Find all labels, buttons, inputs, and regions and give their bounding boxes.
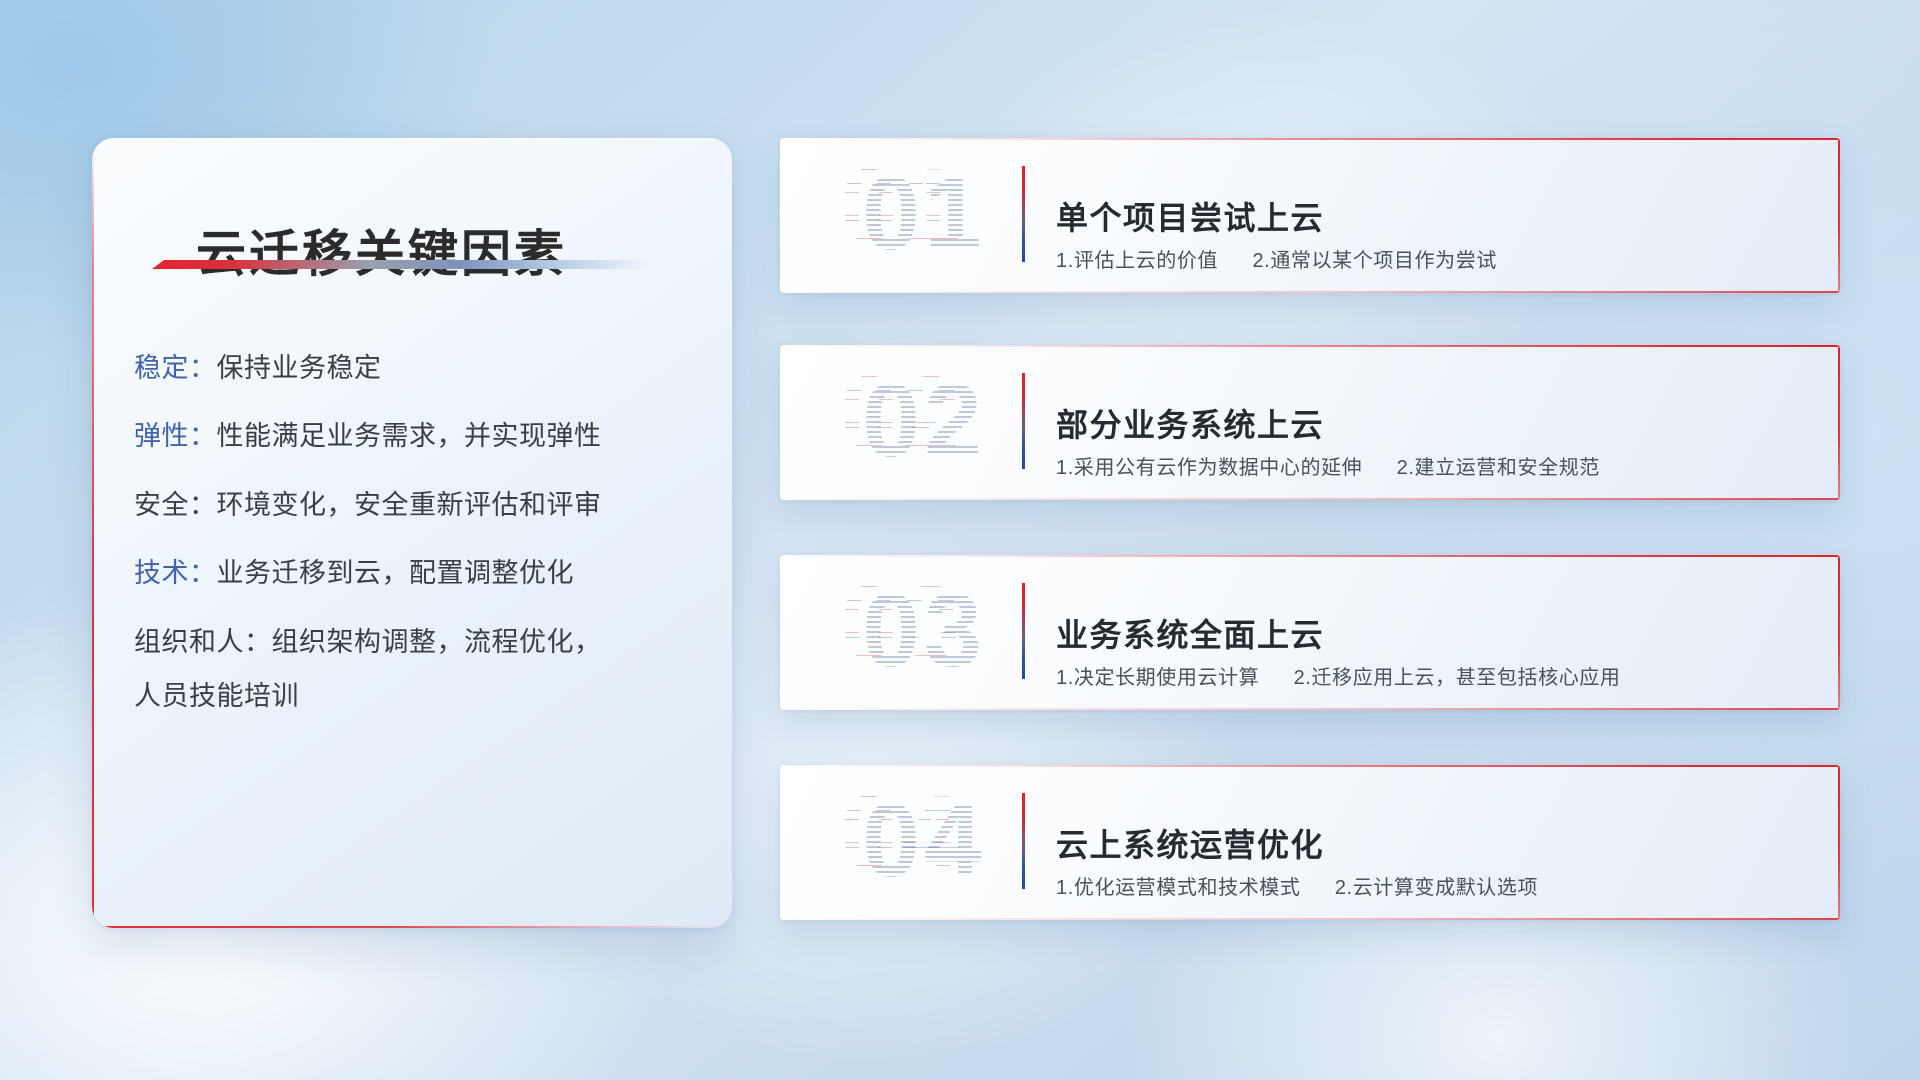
list-item-text: 组织架构调整，流程优化， bbox=[272, 627, 602, 657]
slide-stage: 云迁移关键因素 稳定：保持业务稳定 弹性：性能满足业务需求，并实现弹性 安全：环… bbox=[0, 0, 1920, 1080]
card-right-accent-bar bbox=[1838, 345, 1840, 500]
card-bottom-accent-bar bbox=[780, 918, 1840, 920]
stage-description: 1.评估上云的价值 2.通常以某个项目作为尝试 bbox=[1056, 244, 1497, 273]
stage-card-04[interactable]: 04 04 04 云上系统运营优化 1.优化运营模式和技术模式 2.云计算变成默… bbox=[780, 765, 1840, 920]
stage-number-graphic: 02 02 02 bbox=[802, 353, 1002, 473]
list-item-key: 稳定： bbox=[134, 353, 217, 383]
card-left-highlight bbox=[780, 765, 781, 920]
stage-number-blue-scanlines: 03 bbox=[802, 563, 1002, 683]
stage-point-1: 1.评估上云的价值 bbox=[1056, 250, 1218, 272]
list-item: 安全：环境变化，安全重新评估和评审 bbox=[134, 487, 704, 523]
stage-point-2: 2.迁移应用上云，甚至包括核心应用 bbox=[1294, 667, 1621, 689]
card-bottom-accent-bar bbox=[780, 708, 1840, 710]
card-top-accent-bar bbox=[780, 765, 1840, 767]
card-top-accent-bar bbox=[780, 345, 1840, 347]
stage-number-blue-scanlines: 02 bbox=[802, 353, 1002, 473]
stage-point-2: 2.通常以某个项目作为尝试 bbox=[1252, 250, 1496, 272]
stage-title: 云上系统运营优化 bbox=[1056, 820, 1324, 866]
card-bottom-accent-bar bbox=[780, 498, 1840, 500]
stage-card-01[interactable]: 01 01 01 单个项目尝试上云 1.评估上云的价值 2.通常以某个项目作为尝… bbox=[780, 138, 1840, 293]
card-top-highlight bbox=[92, 138, 732, 139]
stage-number-graphic: 03 03 03 bbox=[802, 563, 1002, 683]
stage-title: 部分业务系统上云 bbox=[1056, 400, 1324, 446]
stage-description: 1.决定长期使用云计算 2.迁移应用上云，甚至包括核心应用 bbox=[1056, 661, 1621, 690]
card-top-accent-bar bbox=[780, 555, 1840, 557]
key-factors-list: 稳定：保持业务稳定 弹性：性能满足业务需求，并实现弹性 安全：环境变化，安全重新… bbox=[134, 350, 704, 747]
card-left-highlight bbox=[780, 345, 781, 500]
list-item-text: 环境变化，安全重新评估和评审 bbox=[217, 490, 602, 520]
card-left-accent-bar bbox=[92, 138, 94, 928]
stage-number-graphic: 04 04 04 bbox=[802, 773, 1002, 893]
card-left-highlight bbox=[780, 138, 781, 293]
list-item: 组织和人：组织架构调整，流程优化， bbox=[134, 624, 704, 660]
stage-number-graphic: 01 01 01 bbox=[802, 146, 1002, 266]
list-item-continuation: 人员技能培训 bbox=[134, 678, 704, 714]
list-item: 技术：业务迁移到云，配置调整优化 bbox=[134, 555, 704, 591]
list-item: 弹性：性能满足业务需求，并实现弹性 bbox=[134, 418, 704, 454]
stage-number-blue-scanlines: 04 bbox=[802, 773, 1002, 893]
card-right-accent-bar bbox=[1838, 555, 1840, 710]
stage-point-1: 1.采用公有云作为数据中心的延伸 bbox=[1056, 457, 1362, 479]
list-item-text: 性能满足业务需求，并实现弹性 bbox=[217, 421, 602, 451]
stage-divider-bar bbox=[1022, 793, 1025, 889]
list-item-key: 组织和人： bbox=[134, 627, 272, 657]
list-item-text: 人员技能培训 bbox=[134, 681, 299, 711]
stage-point-2: 2.云计算变成默认选项 bbox=[1335, 877, 1538, 899]
stage-card-02[interactable]: 02 02 02 部分业务系统上云 1.采用公有云作为数据中心的延伸 2.建立运… bbox=[780, 345, 1840, 500]
stage-divider-bar bbox=[1022, 583, 1025, 679]
stage-title: 单个项目尝试上云 bbox=[1056, 193, 1324, 239]
stage-description: 1.采用公有云作为数据中心的延伸 2.建立运营和安全规范 bbox=[1056, 451, 1600, 480]
list-item-text: 业务迁移到云，配置调整优化 bbox=[217, 558, 575, 588]
card-top-accent-bar bbox=[780, 138, 1840, 140]
list-item-text: 保持业务稳定 bbox=[217, 353, 382, 383]
card-bottom-accent-bar bbox=[780, 291, 1840, 293]
stage-title: 业务系统全面上云 bbox=[1056, 610, 1324, 656]
card-right-accent-bar bbox=[1838, 138, 1840, 293]
card-left-highlight bbox=[780, 555, 781, 710]
stage-divider-bar bbox=[1022, 373, 1025, 469]
card-bottom-accent-bar bbox=[92, 926, 732, 928]
stage-point-1: 1.决定长期使用云计算 bbox=[1056, 667, 1259, 689]
list-item-key: 安全： bbox=[134, 490, 217, 520]
stage-card-03[interactable]: 03 03 03 业务系统全面上云 1.决定长期使用云计算 2.迁移应用上云，甚… bbox=[780, 555, 1840, 710]
list-item: 稳定：保持业务稳定 bbox=[134, 350, 704, 386]
stage-point-1: 1.优化运营模式和技术模式 bbox=[1056, 877, 1300, 899]
page-title: 云迁移关键因素 bbox=[196, 214, 567, 286]
key-factors-card: 云迁移关键因素 稳定：保持业务稳定 弹性：性能满足业务需求，并实现弹性 安全：环… bbox=[92, 138, 732, 928]
list-item-key: 弹性： bbox=[134, 421, 217, 451]
title-underline-gradient bbox=[152, 260, 648, 269]
stage-point-2: 2.建立运营和安全规范 bbox=[1397, 457, 1600, 479]
stage-description: 1.优化运营模式和技术模式 2.云计算变成默认选项 bbox=[1056, 871, 1538, 900]
list-item-key: 技术： bbox=[134, 558, 217, 588]
card-right-accent-bar bbox=[1838, 765, 1840, 920]
stage-divider-bar bbox=[1022, 166, 1025, 262]
stage-number-blue-scanlines: 01 bbox=[802, 146, 1002, 266]
